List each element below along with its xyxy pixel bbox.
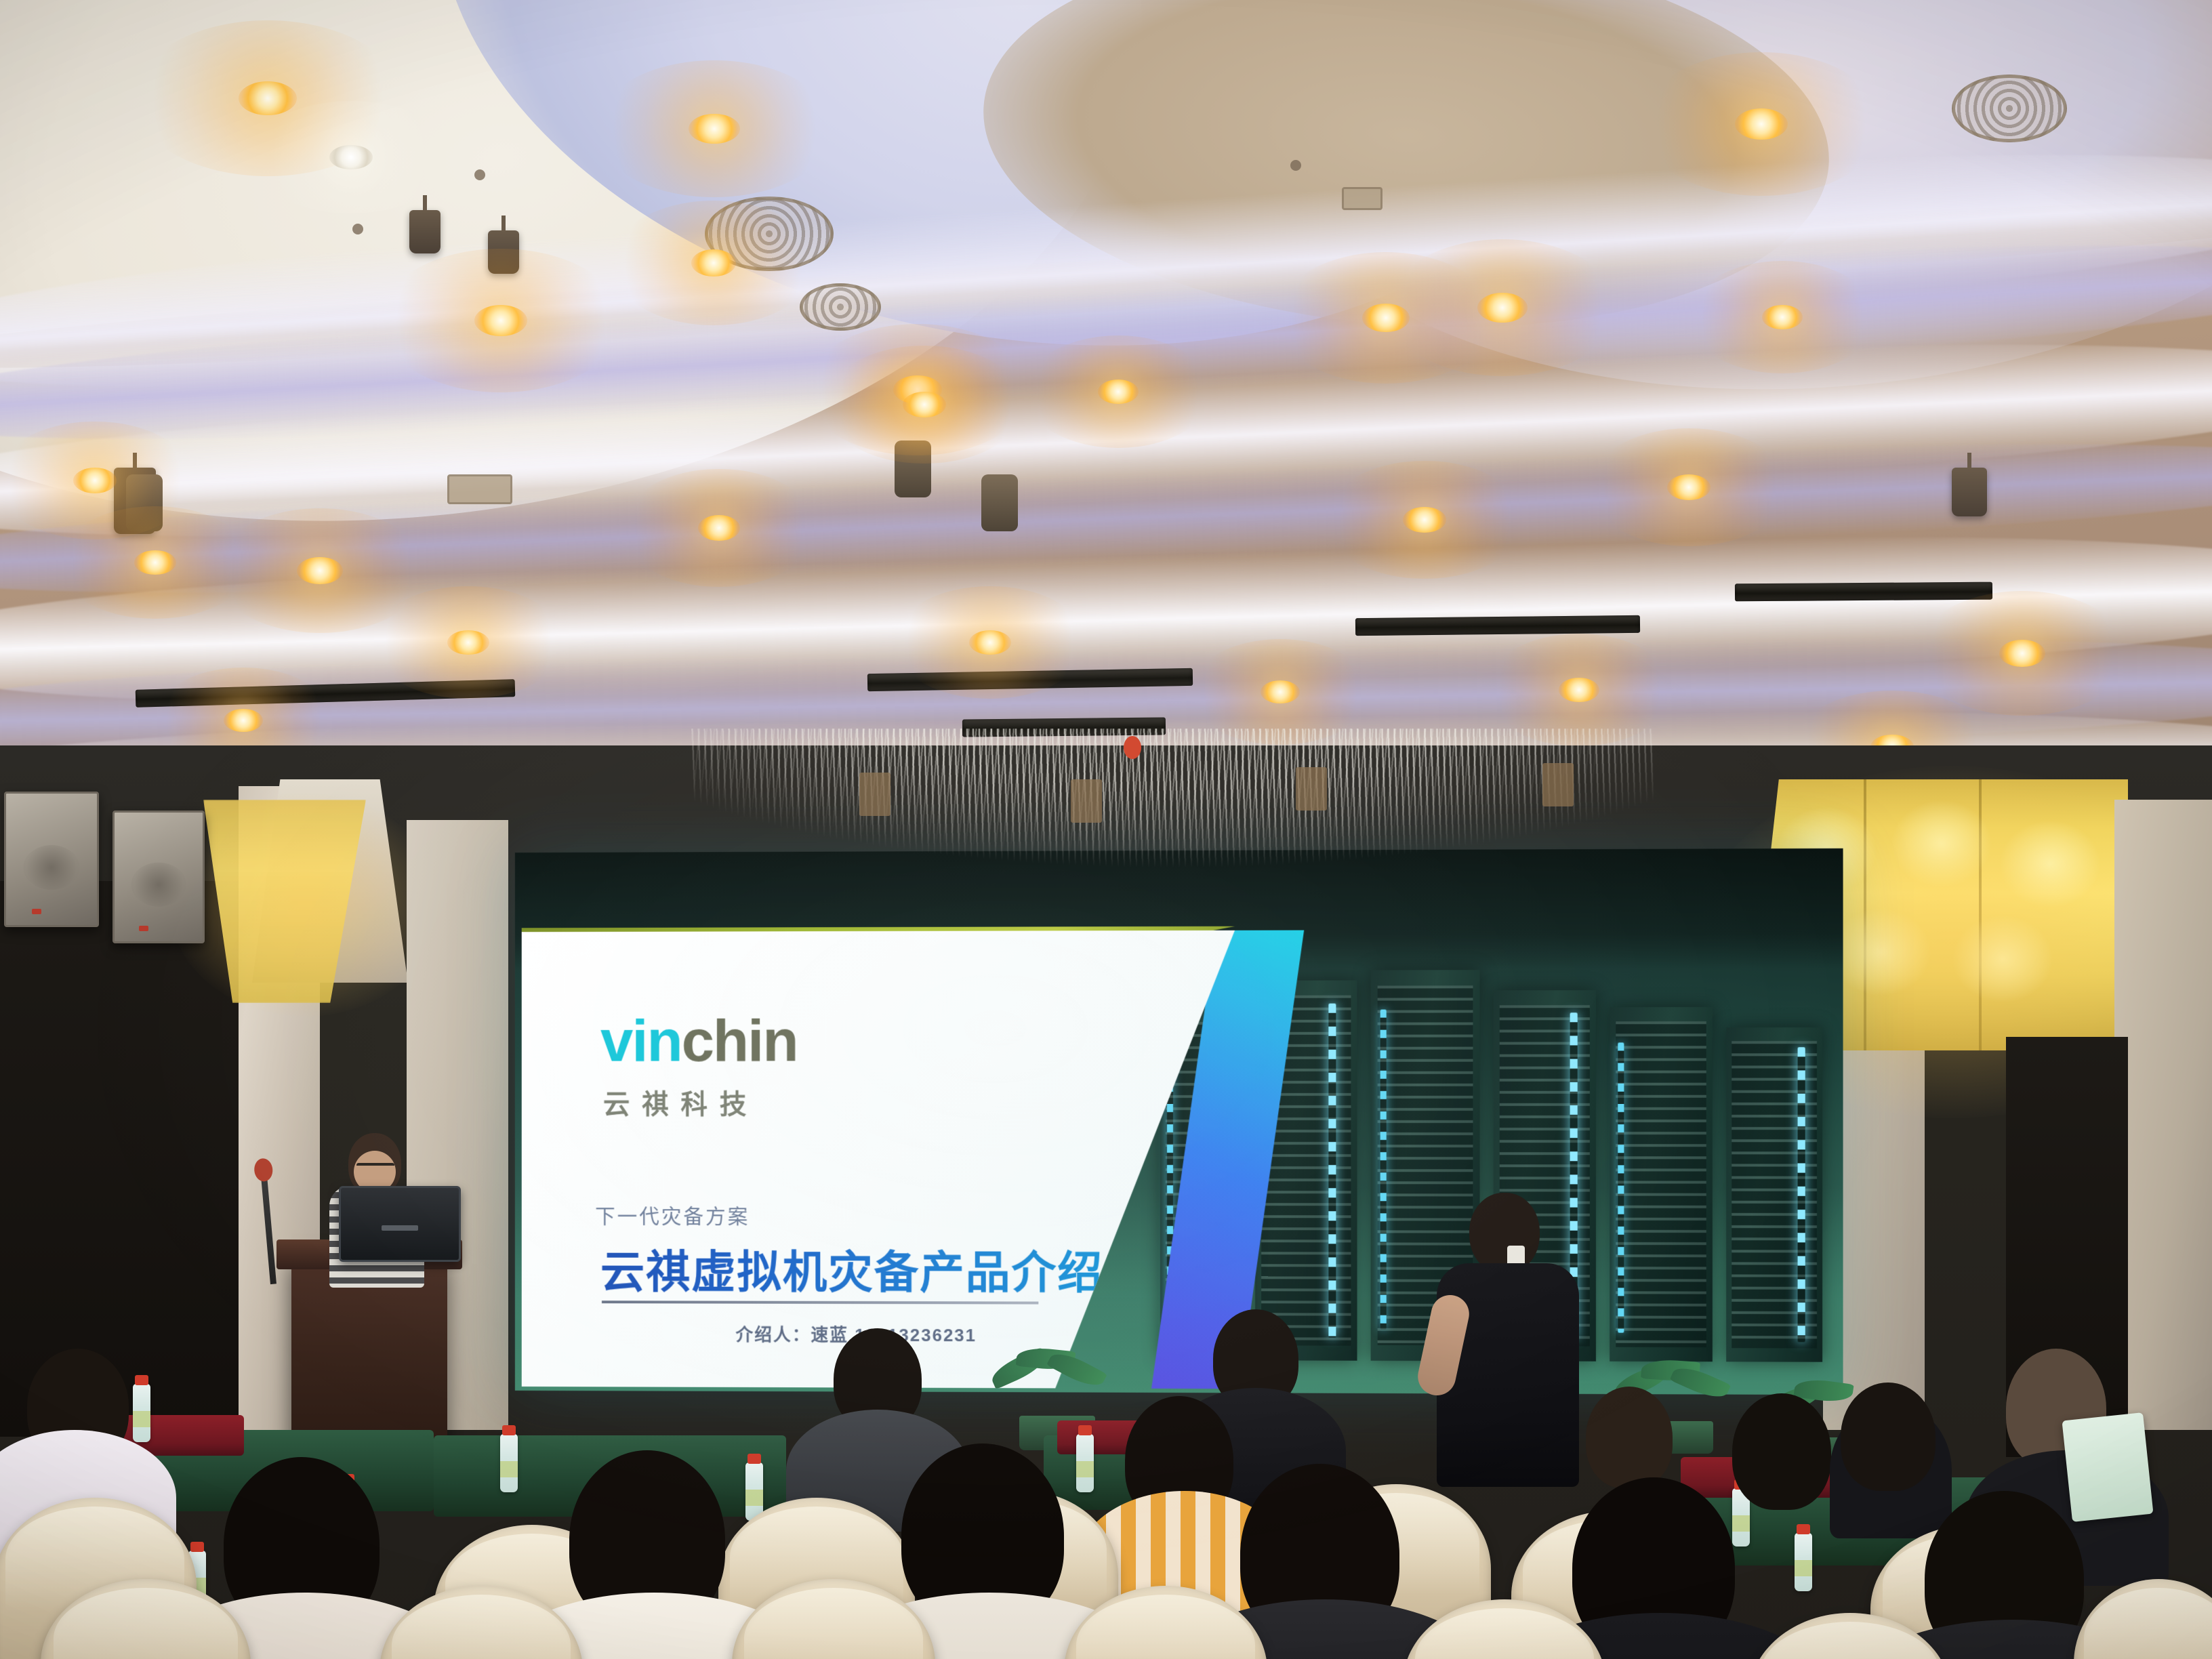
loudspeaker-left-2 <box>112 811 205 943</box>
hanging-net-decor-layer2 <box>691 729 1654 874</box>
downlight-c12 <box>1261 680 1300 703</box>
downlight-b3 <box>903 392 946 417</box>
attendee-head-far-6 <box>1841 1382 1935 1491</box>
ceiling-spotlight-4 <box>1952 468 1987 516</box>
downlight-a7 <box>1362 304 1410 332</box>
sprinkler-head-1 <box>352 224 363 234</box>
slide-subtitle: 下一代灾备方案 <box>595 1200 750 1229</box>
sprinkler-head-3 <box>474 169 485 180</box>
sprinkler-head-2 <box>1290 160 1301 171</box>
attendee-head-far-8 <box>1586 1387 1673 1488</box>
downlight-c1 <box>73 468 117 493</box>
logo-text-chin: chin <box>682 1007 798 1074</box>
ceiling-vent-panel-1 <box>447 474 512 504</box>
led-video-wall: vinchin 云祺科技 下一代灾备方案 云祺虚拟机灾备产品介绍 介绍人：速蓝 … <box>515 848 1843 1395</box>
ceiling-track-light-3 <box>981 474 1018 531</box>
left-sconce-glow <box>169 793 441 1017</box>
downlight-c10 <box>224 709 263 732</box>
ceiling-ring-vent-right <box>1952 75 2067 142</box>
downlight-a1 <box>239 81 297 115</box>
downlight-b4 <box>1403 507 1446 533</box>
net-weight-3 <box>1296 767 1327 811</box>
ceiling-linear-vent-4 <box>1735 582 1992 602</box>
slide-title: 云祺虚拟机灾备产品介绍 <box>600 1236 1103 1302</box>
attendee-head-far-5 <box>1732 1393 1831 1510</box>
downlight-a2 <box>689 114 740 144</box>
downlight-c5 <box>969 630 1011 655</box>
net-red-ball <box>1124 736 1141 759</box>
downlight-c6 <box>698 515 740 541</box>
far-right-pillar <box>2114 800 2212 1430</box>
water-bottle-12 <box>1795 1533 1812 1591</box>
water-bottle-6 <box>500 1434 518 1492</box>
logo-chinese-name: 云祺科技 <box>603 1082 758 1122</box>
downlight-c11 <box>1762 305 1803 329</box>
downlight-b1 <box>329 145 373 169</box>
downlight-a3 <box>1735 108 1788 140</box>
ceiling-linear-vent-3 <box>1355 615 1640 636</box>
ceiling-vent-panel-2 <box>1342 187 1382 210</box>
server-rack-4 <box>1610 1007 1713 1361</box>
downlight-c4 <box>447 630 489 655</box>
downlight-c2 <box>297 557 343 584</box>
downlight-c8 <box>1559 678 1599 702</box>
downlight-b5 <box>1667 474 1711 500</box>
water-bottle-1 <box>133 1384 150 1442</box>
presenter-laptop <box>339 1186 461 1262</box>
water-bottle-9 <box>1076 1434 1094 1492</box>
standing-attendee <box>1437 1193 1579 1491</box>
downlight-b6 <box>1999 640 2045 667</box>
handheld-tablet[interactable] <box>2062 1412 2153 1522</box>
vinchin-logo: vinchin <box>600 1011 798 1071</box>
conference-room-photo: vinchin 云祺科技 下一代灾备方案 云祺虚拟机灾备产品介绍 介绍人：速蓝 … <box>0 0 2212 1659</box>
downlight-b2 <box>691 249 736 276</box>
net-weight-4 <box>1542 763 1574 806</box>
downlight-c3 <box>134 550 176 575</box>
net-weight-2 <box>1071 779 1102 823</box>
slide-divider-rule <box>602 1300 1038 1304</box>
downlight-c7 <box>1098 380 1139 404</box>
net-weight-1 <box>859 773 890 816</box>
ceiling <box>0 0 2212 800</box>
ceiling-ring-vent-center <box>800 283 881 331</box>
ceiling-spotlight-2 <box>409 210 441 253</box>
downlight-a5 <box>474 305 527 336</box>
server-rack-5 <box>1726 1027 1822 1362</box>
loudspeaker-left-1 <box>4 792 99 927</box>
logo-text-vin: vin <box>600 1007 682 1073</box>
